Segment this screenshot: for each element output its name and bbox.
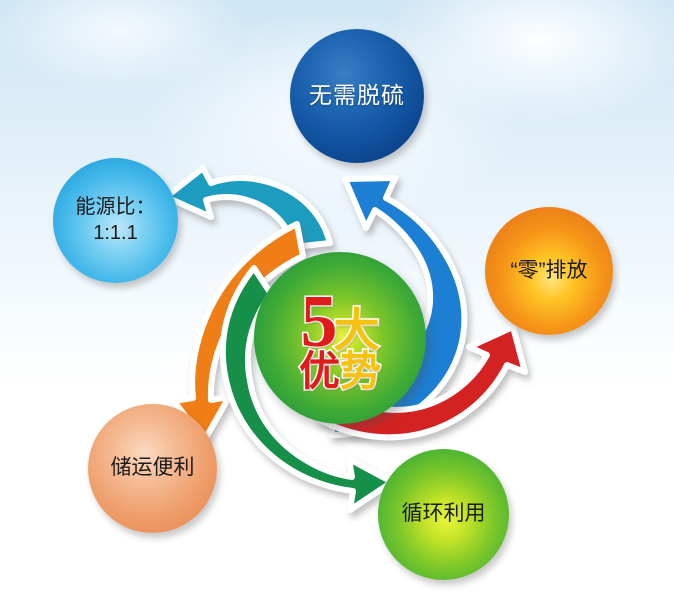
infographic-canvas: 5 大 优势 无需脱硫 能源比： 1:1.1 “零”排放 储运便利 循环利用: [0, 0, 674, 614]
arrow-to-left-band-shape: [166, 168, 330, 247]
center-word-you: 优: [299, 348, 340, 394]
node-label-right: “零”排放: [505, 258, 594, 285]
center-line-2: 优势: [299, 351, 381, 392]
center-label: 5 大 优势: [254, 252, 426, 424]
node-bubble-bottom-left[interactable]: 储运便利: [88, 404, 217, 533]
node-bubble-top[interactable]: 无需脱硫: [290, 29, 424, 163]
center-bubble[interactable]: 5 大 优势: [254, 252, 426, 424]
node-label-bottom-right: 循环利用: [396, 501, 492, 528]
center-number: 5: [301, 288, 338, 356]
center-line-1: 5 大: [301, 288, 380, 356]
node-label-top: 无需脱硫: [303, 81, 411, 110]
arrow-to-left-band: [166, 168, 330, 247]
node-bubble-bottom-right[interactable]: 循环利用: [378, 449, 509, 580]
node-label-left: 能源比： 1:1.1: [70, 195, 162, 246]
node-bubble-right[interactable]: “零”排放: [485, 207, 613, 335]
node-bubble-left[interactable]: 能源比： 1:1.1: [53, 158, 178, 283]
center-word-shi: 势: [340, 348, 381, 394]
node-label-bottom-left: 储运便利: [105, 455, 201, 482]
